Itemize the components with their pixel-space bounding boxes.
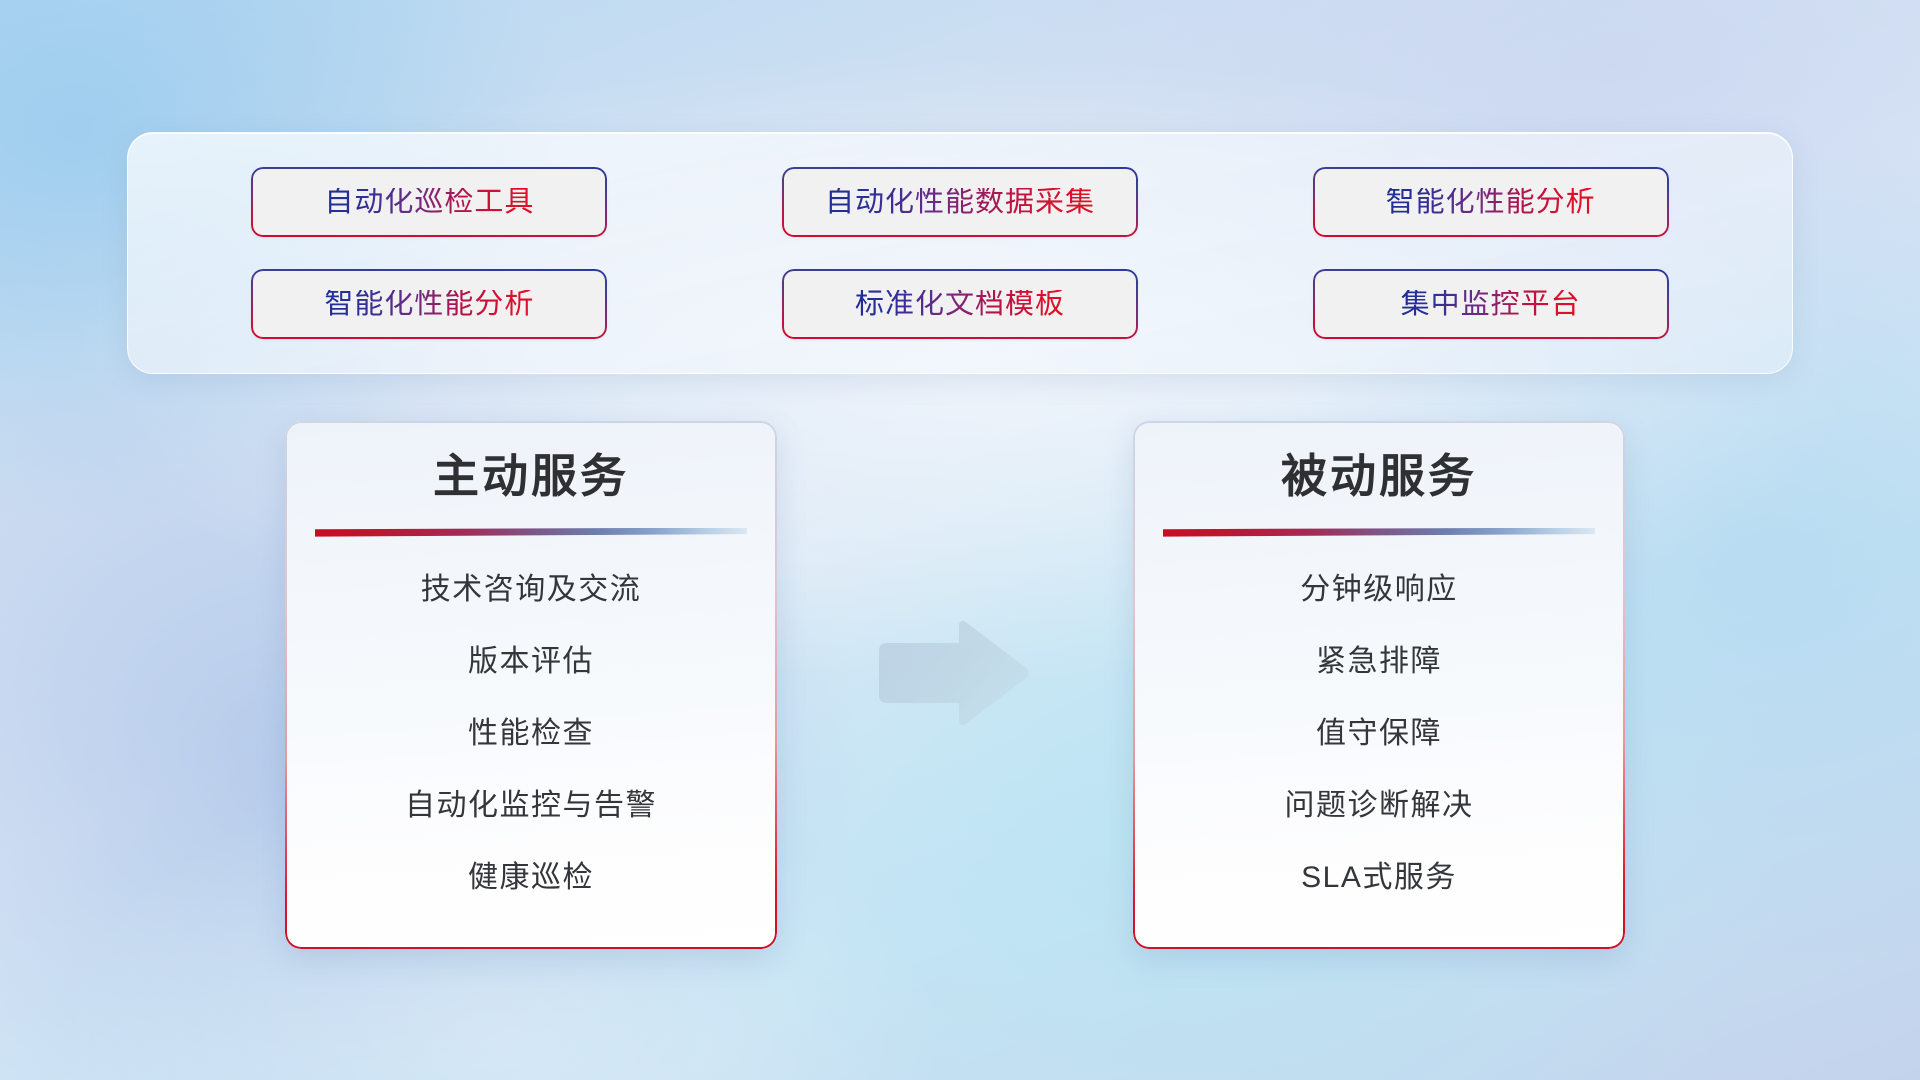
capability-pill-label: 标准化文档模板 (855, 290, 1065, 319)
service-card-active[interactable]: 主动服务 技术咨询及交流 版本评估 性能检查 自动化监控与告警 健康巡检 (285, 421, 777, 949)
service-card-title: 主动服务 (433, 451, 629, 502)
card-divider-bar (315, 528, 747, 537)
service-item-list: 分钟级响应 紧急排障 值守保障 问题诊断解决 SLA式服务 (1159, 545, 1599, 923)
card-divider (315, 528, 747, 537)
service-item[interactable]: 性能检查 (311, 698, 751, 770)
service-item[interactable]: 紧急排障 (1159, 626, 1599, 698)
capability-pill-1[interactable]: 自动化巡检工具 (251, 167, 607, 237)
card-divider (1163, 528, 1595, 537)
service-item[interactable]: 健康巡检 (311, 842, 751, 914)
service-item[interactable]: 自动化监控与告警 (311, 770, 751, 842)
card-divider-bar (1163, 528, 1595, 537)
service-item[interactable]: SLA式服务 (1159, 842, 1599, 914)
service-item[interactable]: 值守保障 (1159, 698, 1599, 770)
capability-pill-label: 智能化性能分析 (1386, 188, 1596, 217)
capability-pill-6[interactable]: 集中监控平台 (1313, 269, 1669, 339)
stage: 自动化巡检工具 自动化性能数据采集 智能化性能分析 智能化性能分析 标准化文档模… (0, 0, 1920, 1080)
service-card-passive[interactable]: 被动服务 分钟级响应 紧急排障 值守保障 问题诊断解决 SLA式服务 (1133, 421, 1625, 949)
capability-pill-label: 集中监控平台 (1401, 290, 1581, 319)
capability-pill-5[interactable]: 标准化文档模板 (782, 269, 1138, 339)
capability-pill-2[interactable]: 自动化性能数据采集 (782, 167, 1138, 237)
capability-pill-4[interactable]: 智能化性能分析 (251, 269, 607, 339)
service-card-body: 被动服务 分钟级响应 紧急排障 值守保障 问题诊断解决 SLA式服务 (1133, 421, 1625, 949)
service-item-list: 技术咨询及交流 版本评估 性能检查 自动化监控与告警 健康巡检 (311, 545, 751, 923)
capability-pill-label: 自动化巡检工具 (324, 188, 534, 217)
service-item[interactable]: 版本评估 (311, 626, 751, 698)
service-item[interactable]: 问题诊断解决 (1159, 770, 1599, 842)
service-item[interactable]: 分钟级响应 (1159, 554, 1599, 626)
capability-panel: 自动化巡检工具 自动化性能数据采集 智能化性能分析 智能化性能分析 标准化文档模… (127, 132, 1793, 374)
capability-pill-label: 自动化性能数据采集 (825, 188, 1095, 217)
service-card-body: 主动服务 技术咨询及交流 版本评估 性能检查 自动化监控与告警 健康巡检 (285, 421, 777, 949)
service-item[interactable]: 技术咨询及交流 (311, 554, 751, 626)
capability-pill-label: 智能化性能分析 (324, 290, 534, 319)
capability-pill-3[interactable]: 智能化性能分析 (1313, 167, 1669, 237)
arrow-right-icon (873, 617, 1033, 729)
service-card-title: 被动服务 (1281, 451, 1477, 502)
